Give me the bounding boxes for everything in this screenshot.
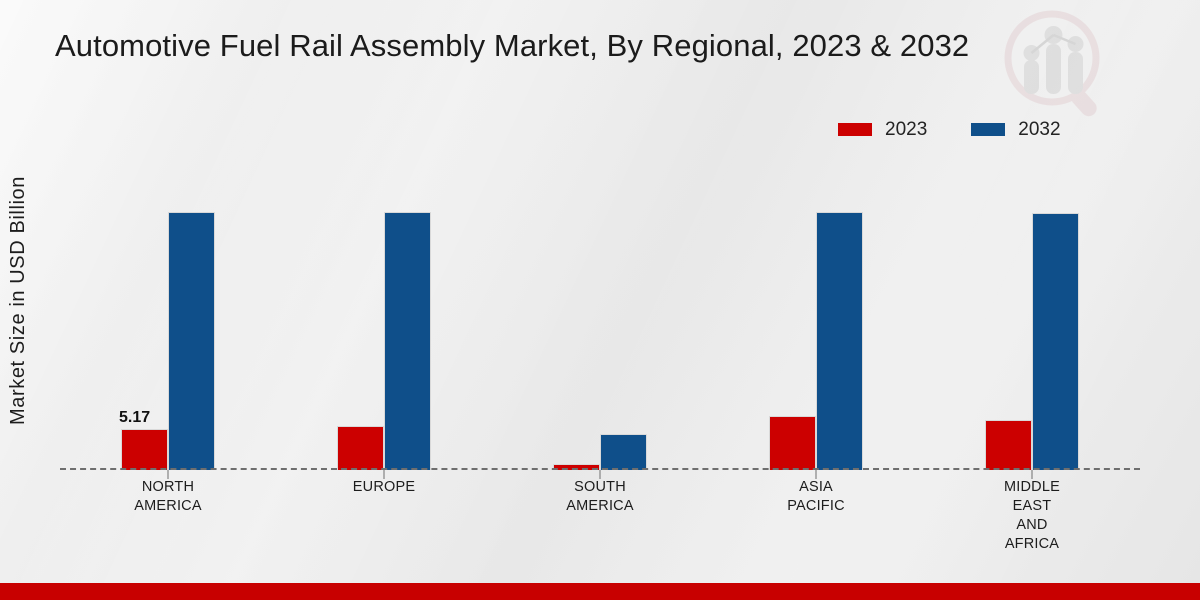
x-axis-category-label: ASIA PACIFIC [787,478,845,516]
bar-2032[interactable] [600,434,647,470]
bar-2023[interactable] [985,420,1032,470]
magnifier-bar-chart-logo-icon [1000,8,1110,126]
bar-pair [553,170,647,470]
legend-item-2023[interactable]: 2023 [838,120,927,139]
y-axis-title: Market Size in USD Billion [0,0,36,600]
bar-2032[interactable] [168,212,215,470]
x-axis-baseline [60,468,1140,470]
bar-2023[interactable] [337,426,384,470]
x-axis-category-label: MIDDLE EAST AND AFRICA [1004,478,1060,554]
bar-pair [985,170,1079,470]
bar-value-label: 5.17 [119,409,150,427]
bar-pair: 5.17 [121,170,215,470]
chart-legend: 2023 2032 [838,120,1061,139]
bar-group: 5.17NORTH AMERICA [60,170,276,470]
bar-group: SOUTH AMERICA [492,170,708,470]
chart-canvas: Automotive Fuel Rail Assembly Market, By… [0,0,1200,600]
plot-area: 5.17NORTH AMERICAEUROPESOUTH AMERICAASIA… [60,170,1140,470]
bar-2023[interactable] [769,416,816,470]
legend-swatch-2023 [838,123,872,136]
legend-swatch-2032 [971,123,1005,136]
bar-group: ASIA PACIFIC [708,170,924,470]
legend-item-2032[interactable]: 2032 [971,120,1060,139]
x-axis-category-label: NORTH AMERICA [134,478,201,516]
bar-2023[interactable] [121,429,168,470]
bar-2032[interactable] [816,212,863,470]
bar-group: MIDDLE EAST AND AFRICA [924,170,1140,470]
legend-label-2032: 2032 [1018,120,1060,139]
footer-accent-bar [0,583,1200,600]
chart-title: Automotive Fuel Rail Assembly Market, By… [55,28,969,64]
bar-2032[interactable] [384,212,431,470]
bar-pair [337,170,431,470]
bar-pair [769,170,863,470]
bar-groups: 5.17NORTH AMERICAEUROPESOUTH AMERICAASIA… [60,170,1140,470]
legend-label-2023: 2023 [885,120,927,139]
y-axis-title-text: Market Size in USD Billion [7,175,30,424]
x-axis-category-label: SOUTH AMERICA [566,478,633,516]
x-axis-category-label: EUROPE [353,478,415,497]
bar-group: EUROPE [276,170,492,470]
bar-2032[interactable] [1032,213,1079,470]
